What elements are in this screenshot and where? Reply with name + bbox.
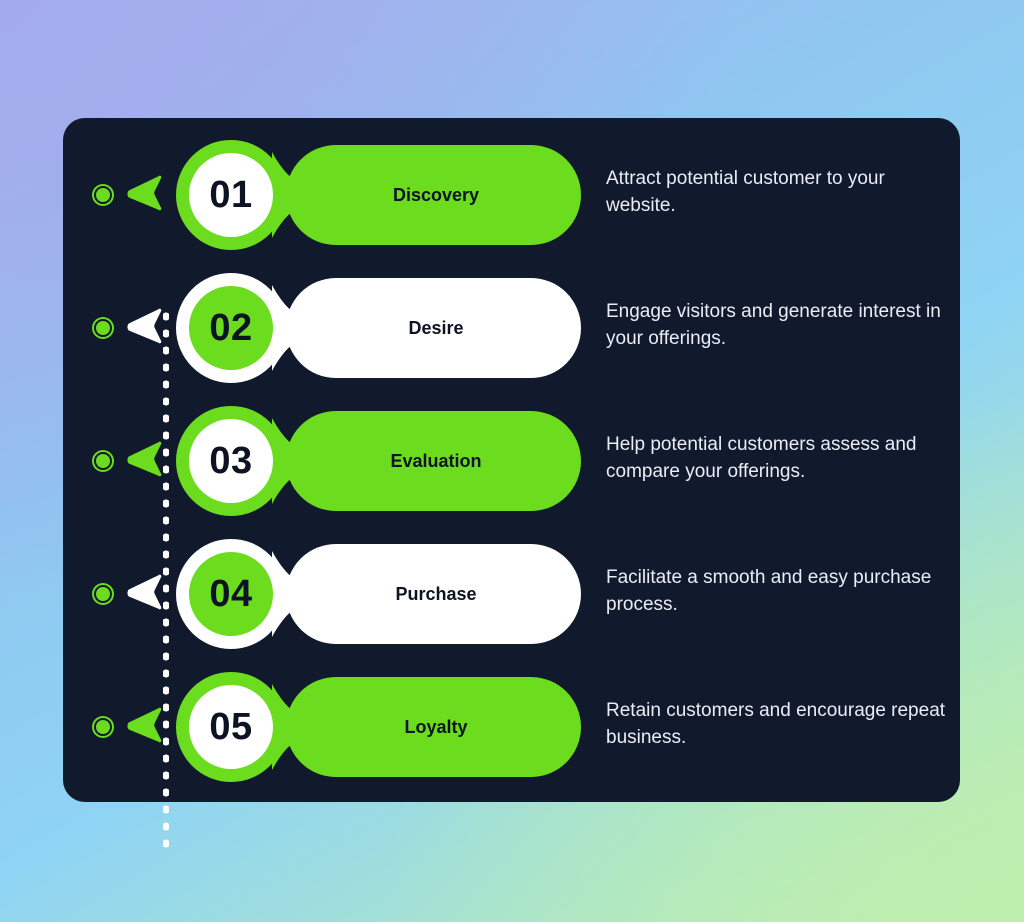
- step-label: Loyalty: [286, 672, 586, 782]
- chevron-left-icon: [122, 437, 162, 485]
- timeline-node-dot-icon: [94, 585, 112, 603]
- infographic-stage: 01DiscoveryAttract potential customer to…: [0, 0, 1024, 922]
- step-row[interactable]: 01DiscoveryAttract potential customer to…: [0, 140, 1024, 273]
- step-row[interactable]: 04PurchaseFacilitate a smooth and easy p…: [0, 539, 1024, 672]
- step-row[interactable]: 02DesireEngage visitors and generate int…: [0, 273, 1024, 406]
- timeline-node-dot-icon: [94, 186, 112, 204]
- chevron-left-icon: [122, 304, 162, 352]
- chevron-left-icon: [122, 570, 162, 618]
- chevron-left-icon: [122, 171, 162, 219]
- step-number: 01: [176, 140, 286, 250]
- step-description: Attract potential customer to your websi…: [606, 166, 946, 220]
- step-number: 04: [176, 539, 286, 649]
- timeline-node-dot-icon: [94, 718, 112, 736]
- step-label: Purchase: [286, 539, 586, 649]
- step-description: Facilitate a smooth and easy purchase pr…: [606, 565, 946, 619]
- step-description: Engage visitors and generate interest in…: [606, 299, 946, 353]
- timeline-node-dot-icon: [94, 319, 112, 337]
- step-number: 03: [176, 406, 286, 516]
- step-row[interactable]: 05LoyaltyRetain customers and encourage …: [0, 672, 1024, 805]
- step-number: 05: [176, 672, 286, 782]
- step-number: 02: [176, 273, 286, 383]
- step-label: Discovery: [286, 140, 586, 250]
- step-row[interactable]: 03EvaluationHelp potential customers ass…: [0, 406, 1024, 539]
- timeline-node-dot-icon: [94, 452, 112, 470]
- step-label: Evaluation: [286, 406, 586, 516]
- step-label: Desire: [286, 273, 586, 383]
- chevron-left-icon: [122, 703, 162, 751]
- step-description: Retain customers and encourage repeat bu…: [606, 698, 946, 752]
- step-description: Help potential customers assess and comp…: [606, 432, 946, 486]
